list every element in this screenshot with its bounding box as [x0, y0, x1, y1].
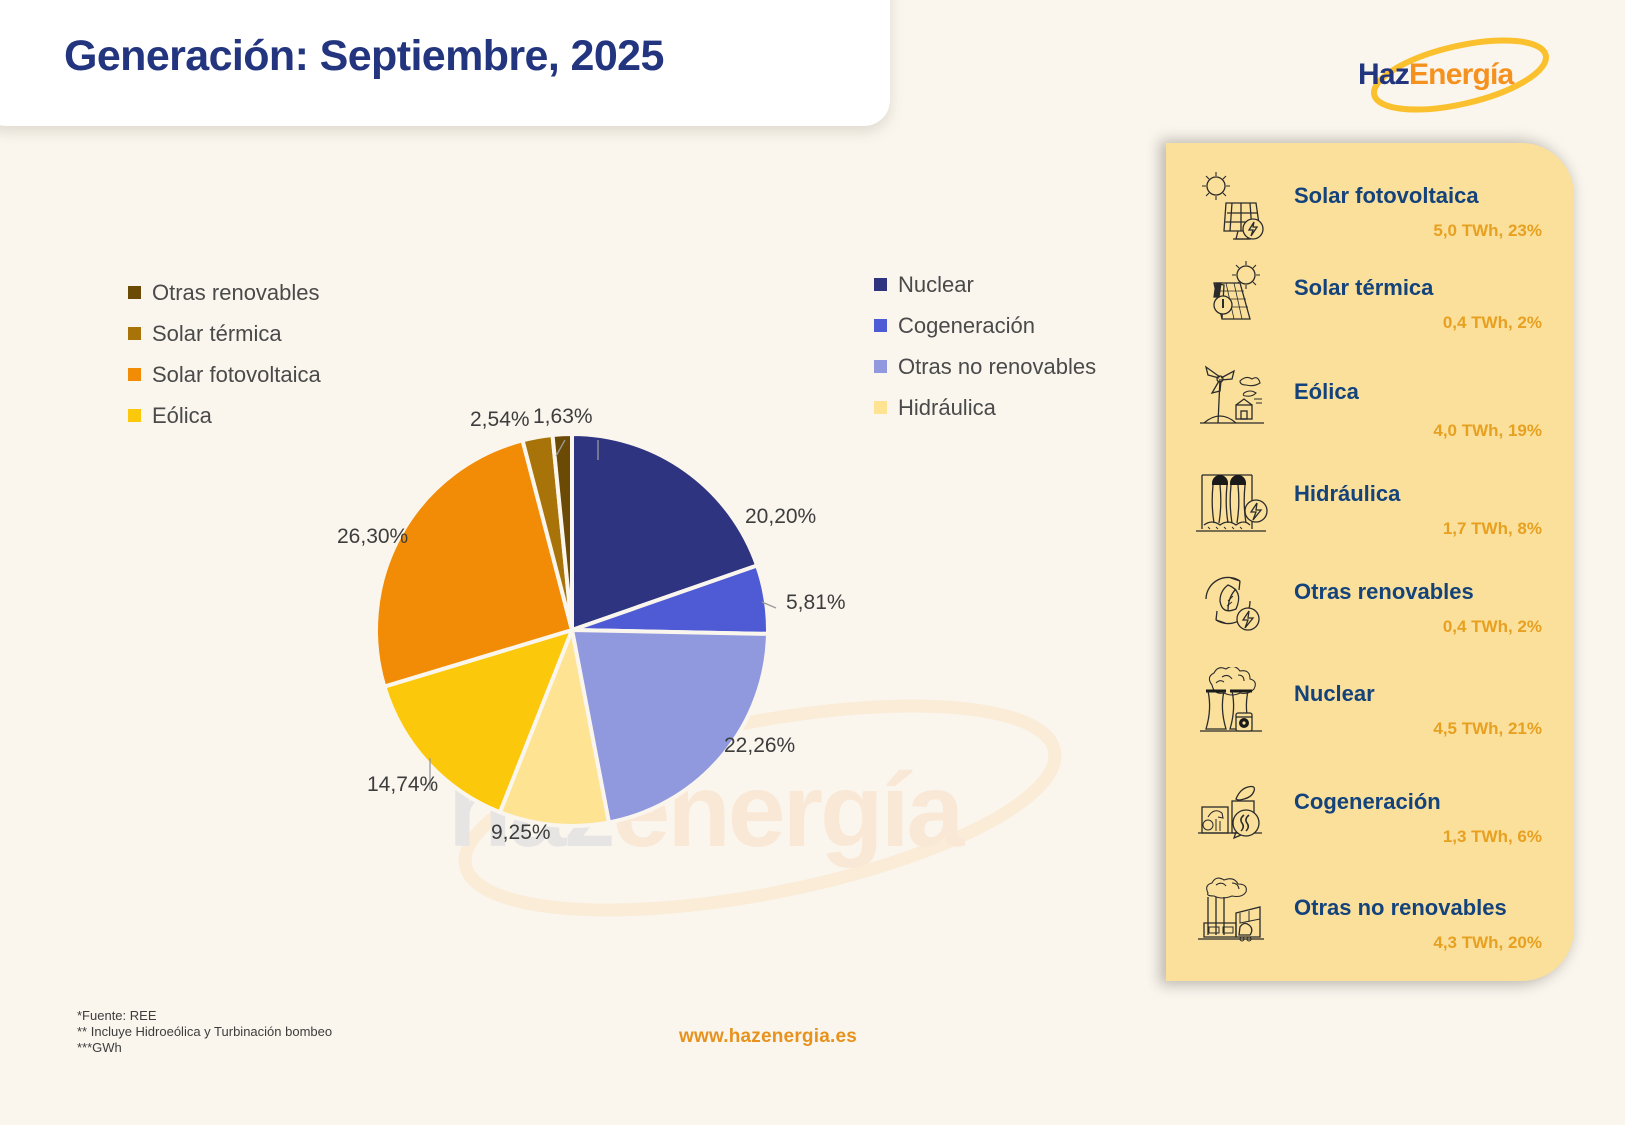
- pie-label-solar-fotovoltaica: 26,30%: [337, 525, 408, 549]
- panel-item-value: 0,4 TWh, 2%: [1294, 313, 1542, 333]
- title-main: Septiembre, 2025: [308, 32, 664, 80]
- panel-row-solar-fotovoltaica[interactable]: Solar fotovoltaica 5,0 TWh, 23%: [1166, 167, 1574, 269]
- summary-panel: Solar fotovoltaica 5,0 TWh, 23% Solar té…: [1166, 143, 1574, 981]
- logo-energia: Energía: [1409, 58, 1513, 91]
- logo-text: HazEnergía: [1358, 58, 1513, 92]
- legend-left: Otras renovables Solar térmica Solar fot…: [128, 272, 321, 436]
- logo-haz: Haz: [1358, 58, 1409, 91]
- legend-label: Solar fotovoltaica: [152, 362, 321, 388]
- panel-item-value: 4,3 TWh, 20%: [1294, 933, 1542, 953]
- footnote-unit: ***GWh: [77, 1040, 332, 1056]
- cogeneration-icon: [1192, 773, 1270, 847]
- panel-row-otras-renovables[interactable]: Otras renovables 0,4 TWh, 2%: [1166, 565, 1574, 667]
- panel-row-cogeneracion[interactable]: Cogeneración 1,3 TWh, 6%: [1166, 771, 1574, 873]
- legend-swatch-icon: [874, 278, 887, 291]
- legend-label: Nuclear: [898, 272, 974, 298]
- site-url[interactable]: www.hazenergia.es: [679, 1026, 857, 1048]
- pie-label-otras-no-renovables: 22,26%: [724, 734, 795, 758]
- legend-swatch-icon: [874, 360, 887, 373]
- panel-item-value: 1,3 TWh, 6%: [1294, 827, 1542, 847]
- pie-label-eolica: 14,74%: [367, 773, 438, 797]
- legend-item-eolica[interactable]: Eólica: [128, 395, 321, 436]
- panel-row-hidraulica[interactable]: Hidráulica 1,7 TWh, 8%: [1166, 463, 1574, 565]
- panel-row-solar-termica[interactable]: Solar térmica 0,4 TWh, 2%: [1166, 255, 1574, 357]
- legend-swatch-icon: [874, 401, 887, 414]
- legend-swatch-icon: [874, 319, 887, 332]
- legend-label: Hidráulica: [898, 395, 996, 421]
- pie-label-otras-renovables: 1,63%: [533, 405, 593, 429]
- legend-swatch-icon: [128, 286, 141, 299]
- panel-row-nuclear[interactable]: Nuclear 4,5 TWh, 21%: [1166, 665, 1574, 767]
- legend-swatch-icon: [128, 327, 141, 340]
- pie-label-cogeneracion: 5,81%: [786, 591, 846, 615]
- panel-row-otras-no-renovables[interactable]: Otras no renovables 4,3 TWh, 20%: [1166, 873, 1574, 975]
- panel-item-name: Eólica: [1294, 379, 1359, 405]
- legend-item-solar-fotovoltaica[interactable]: Solar fotovoltaica: [128, 354, 321, 395]
- panel-item-name: Otras no renovables: [1294, 895, 1507, 921]
- footnotes: *Fuente: REE ** Incluye Hidroeólica y Tu…: [77, 1008, 332, 1056]
- panel-item-name: Otras renovables: [1294, 579, 1474, 605]
- legend-label: Otras no renovables: [898, 354, 1096, 380]
- panel-row-eolica[interactable]: Eólica 4,0 TWh, 19%: [1166, 359, 1574, 461]
- legend-swatch-icon: [128, 368, 141, 381]
- panel-item-name: Cogeneración: [1294, 789, 1441, 815]
- legend-right: Nuclear Cogeneración Otras no renovables…: [874, 264, 1096, 428]
- footnote-source: *Fuente: REE: [77, 1008, 332, 1024]
- leaf-recycle-icon: [1192, 567, 1270, 641]
- legend-item-cogeneracion[interactable]: Cogeneración: [874, 305, 1096, 346]
- panel-item-name: Solar térmica: [1294, 275, 1433, 301]
- legend-label: Cogeneración: [898, 313, 1035, 339]
- legend-item-otras-renovables[interactable]: Otras renovables: [128, 272, 321, 313]
- title-card: Generación: Septiembre, 2025: [0, 0, 890, 126]
- legend-item-otras-no-renovables[interactable]: Otras no renovables: [874, 346, 1096, 387]
- panel-item-value: 1,7 TWh, 8%: [1294, 519, 1542, 539]
- legend-item-hidraulica[interactable]: Hidráulica: [874, 387, 1096, 428]
- panel-item-name: Nuclear: [1294, 681, 1375, 707]
- panel-item-value: 5,0 TWh, 23%: [1294, 221, 1542, 241]
- solar-thermal-icon: [1192, 257, 1270, 331]
- pie-label-solar-termica: 2,54%: [470, 408, 530, 432]
- footnote-hydro: ** Incluye Hidroeólica y Turbinación bom…: [77, 1024, 332, 1040]
- legend-item-nuclear[interactable]: Nuclear: [874, 264, 1096, 305]
- logo[interactable]: HazEnergía: [1352, 34, 1562, 116]
- page-title: Generación: Septiembre, 2025: [64, 32, 664, 81]
- panel-item-name: Hidráulica: [1294, 481, 1400, 507]
- legend-label: Otras renovables: [152, 280, 320, 306]
- legend-label: Eólica: [152, 403, 212, 429]
- panel-item-name: Solar fotovoltaica: [1294, 183, 1479, 209]
- legend-label: Solar térmica: [152, 321, 282, 347]
- factory-icon: [1192, 875, 1270, 949]
- pie-label-nuclear: 20,20%: [745, 505, 816, 529]
- panel-item-value: 4,5 TWh, 21%: [1294, 719, 1542, 739]
- legend-item-solar-termica[interactable]: Solar térmica: [128, 313, 321, 354]
- legend-swatch-icon: [128, 409, 141, 422]
- panel-item-value: 0,4 TWh, 2%: [1294, 617, 1542, 637]
- nuclear-plant-icon: [1192, 667, 1270, 741]
- pie-leader-lines: [370, 418, 830, 848]
- title-prefix: Generación:: [64, 32, 308, 80]
- hydro-dam-icon: [1192, 465, 1270, 539]
- wind-turbine-icon: [1192, 361, 1270, 435]
- pie-label-hidraulica: 9,25%: [491, 821, 551, 845]
- panel-item-value: 4,0 TWh, 19%: [1294, 421, 1542, 441]
- solar-panel-icon: [1192, 169, 1270, 243]
